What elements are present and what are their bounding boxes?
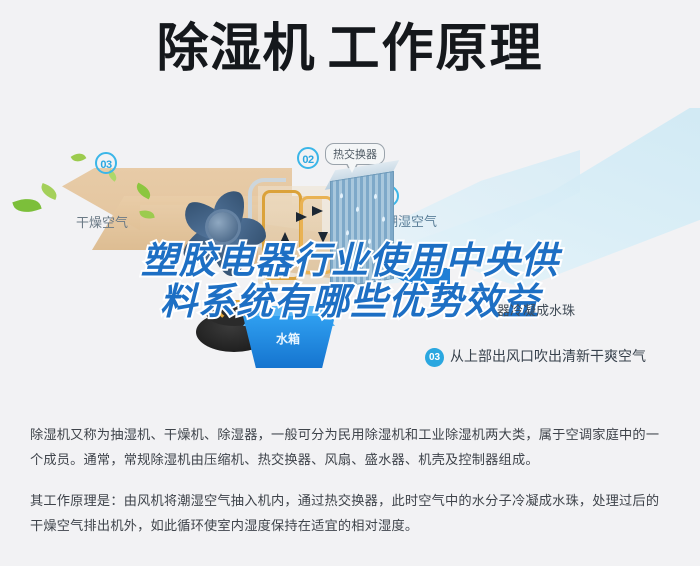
overlay-headline-line2: 料系统有哪些优势效益 <box>0 281 700 322</box>
step-3-badge: 03 <box>425 348 444 367</box>
step-3-text: 从上部出风口吹出清新干爽空气 <box>450 348 646 364</box>
page-title: 除湿机工作原理 <box>0 22 700 77</box>
callout-heat-exchanger: 热交换器 <box>325 143 385 165</box>
body-paragraph-2: 其工作原理是：由风机将潮湿空气抽入机内，通过热交换器，此时空气中的水分子冷凝成水… <box>0 472 700 538</box>
step-2-text: 器冷凝成水珠 <box>497 300 575 319</box>
page-title-part2: 工作原理 <box>328 20 544 78</box>
badge-03: 03 <box>95 152 117 174</box>
flow-arrow-right-icon <box>296 212 307 222</box>
leaf-icon <box>71 150 87 164</box>
overlay-headline: 塑胶电器行业使用中央供 料系统有哪些优势效益 <box>0 240 700 323</box>
body-paragraph-1: 除湿机又称为抽湿机、干燥机、除湿器，一般可分为民用除湿机和工业除湿机两大类，属于… <box>0 404 700 472</box>
label-dry-air: 干燥空气 <box>76 212 128 231</box>
body-copy: 除湿机又称为抽湿机、干燥机、除湿器，一般可分为民用除湿机和工业除湿机两大类，属于… <box>0 404 700 566</box>
label-water-tank: 水箱 <box>276 330 300 347</box>
leaf-icon <box>12 194 41 216</box>
badge-02: 02 <box>297 147 319 169</box>
page-root: 除湿机工作原理 03 干燥空气 02 热交换器 01 潮湿空气 <box>0 0 700 566</box>
hero-illustration: 除湿机工作原理 03 干燥空气 02 热交换器 01 潮湿空气 <box>0 0 700 400</box>
overlay-headline-line1: 塑胶电器行业使用中央供 <box>0 240 700 281</box>
leaf-icon <box>39 183 60 200</box>
page-title-part1: 除湿机 <box>156 20 315 78</box>
flow-arrow-right-icon <box>312 206 323 216</box>
step-3-row: 03从上部出风口吹出清新干爽空气 <box>425 346 646 367</box>
